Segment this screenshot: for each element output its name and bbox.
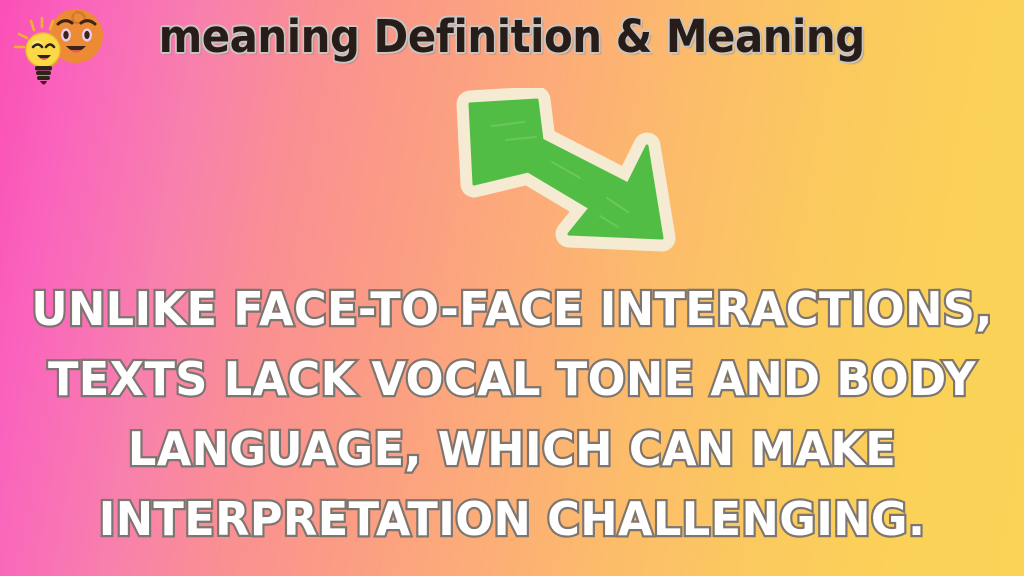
caption-line: INTERPRETATION CHALLENGING. xyxy=(15,484,1008,554)
caption-line: UNLIKE FACE-TO-FACE INTERACTIONS, xyxy=(15,274,1008,344)
emoji-cluster xyxy=(4,2,114,102)
video-slide-canvas: meaning Definition & Meaning UNLIKE FACE… xyxy=(0,0,1024,576)
caption-block: UNLIKE FACE-TO-FACE INTERACTIONS, TEXTS … xyxy=(0,274,1024,554)
title-container: meaning Definition & Meaning xyxy=(0,8,1024,66)
caption-line: TEXTS LACK VOCAL TONE AND BODY xyxy=(15,344,1008,414)
caption-line: LANGUAGE, WHICH CAN MAKE xyxy=(15,414,1008,484)
green-curved-down-right-arrow-icon xyxy=(432,88,677,253)
page-title: meaning Definition & Meaning xyxy=(159,8,865,66)
arrow-svg xyxy=(432,88,677,253)
emoji-group-svg xyxy=(4,2,114,102)
